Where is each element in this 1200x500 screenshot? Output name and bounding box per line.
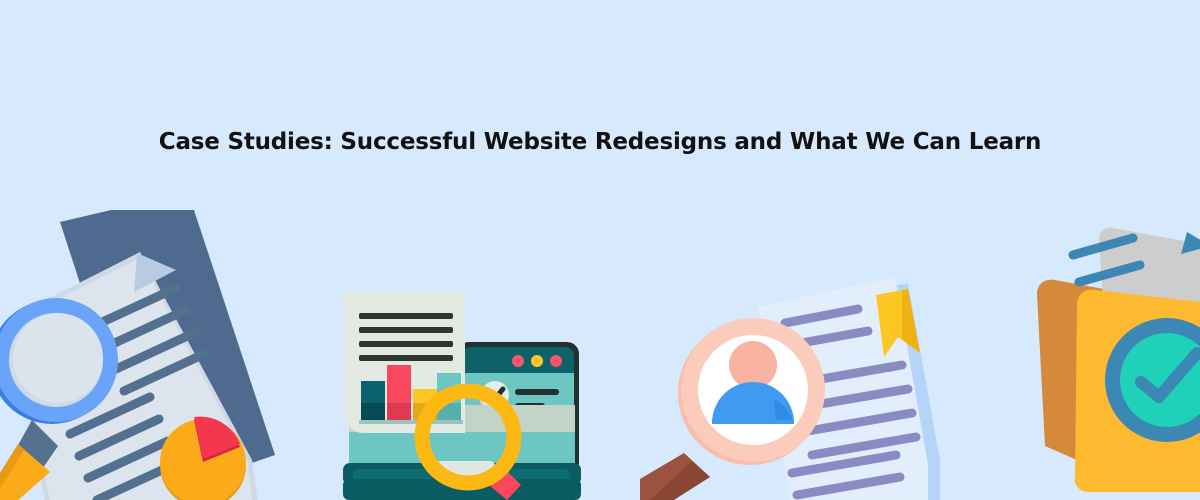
illustration-folder-approved (1015, 190, 1200, 500)
illustration-user-profile-search (640, 265, 950, 500)
window-dot-minimize-icon (531, 355, 543, 367)
page-title: Case Studies: Successful Website Redesig… (0, 126, 1200, 158)
case-studies-banner: Case Studies: Successful Website Redesig… (0, 0, 1200, 500)
window-dot-close-icon (512, 355, 524, 367)
illustration-document-search (0, 210, 290, 500)
window-dot-maximize-icon (550, 355, 562, 367)
illustration-analytics-laptop (325, 285, 595, 500)
